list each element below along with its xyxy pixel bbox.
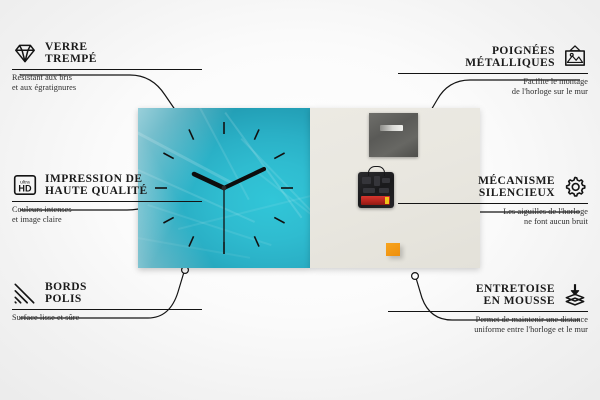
feature-title-line2: HAUTE QUALITÉ bbox=[45, 185, 148, 198]
feature-subtitle-line1: Permet de maintenir une distance bbox=[388, 315, 588, 325]
diamond-icon bbox=[12, 40, 38, 66]
feature-poignees-metalliques: POIGNÉES MÉTALLIQUES Facilite le montage… bbox=[398, 44, 588, 97]
feature-header: POIGNÉES MÉTALLIQUES bbox=[398, 44, 588, 70]
gear-icon bbox=[562, 174, 588, 200]
feature-impression-haute-qualite: ultra HD IMPRESSION DE HAUTE QUALITÉ Cou… bbox=[12, 172, 202, 225]
feature-title-line1: IMPRESSION DE bbox=[45, 173, 148, 186]
feature-subtitle-line2: uniforme entre l'horloge et le mur bbox=[388, 325, 588, 335]
foam-spacer-icon bbox=[562, 282, 588, 308]
mechanism-detail bbox=[363, 188, 375, 193]
feature-title-line2: MÉTALLIQUES bbox=[465, 57, 555, 70]
feature-title-line1: MÉCANISME bbox=[478, 175, 555, 188]
divider bbox=[12, 69, 202, 70]
feature-title-line1: ENTRETOISE bbox=[476, 283, 555, 296]
divider bbox=[388, 311, 588, 312]
clock-hands bbox=[194, 169, 264, 242]
mechanism-detail bbox=[382, 178, 390, 183]
feature-title-line2: POLIS bbox=[45, 293, 87, 306]
minute-hand bbox=[224, 169, 264, 188]
feature-subtitle-line1: Résistant aux bris bbox=[12, 73, 202, 83]
feature-subtitle-line1: Facilite le montage bbox=[398, 77, 588, 87]
feature-header: VERRE TREMPÉ bbox=[12, 40, 202, 66]
battery-positive-terminal bbox=[385, 197, 389, 204]
feature-subtitle-line2: de l'horloge sur le mur bbox=[398, 87, 588, 97]
metal-hanger-plate bbox=[369, 113, 418, 157]
infographic-canvas: VERRE TREMPÉ Résistant aux bris et aux é… bbox=[0, 0, 600, 400]
mechanism-detail bbox=[379, 188, 389, 193]
feature-header: ultra HD IMPRESSION DE HAUTE QUALITÉ bbox=[12, 172, 202, 198]
feature-title-line1: POIGNÉES bbox=[465, 45, 555, 58]
feature-subtitle-line1: Couleurs intenses bbox=[12, 205, 202, 215]
divider bbox=[398, 73, 588, 74]
feature-subtitle-line2: ne font aucun bruit bbox=[398, 217, 588, 227]
feature-subtitle-line1: Les aiguilles de l'horloge bbox=[398, 207, 588, 217]
mechanism-detail bbox=[374, 176, 380, 186]
feature-subtitle-line2: et image claire bbox=[12, 215, 202, 225]
feature-mecanisme-silencieux: MÉCANISME SILENCIEUX Les aiguilles de l'… bbox=[398, 174, 588, 227]
feature-title-line2: EN MOUSSE bbox=[476, 295, 555, 308]
battery bbox=[361, 196, 390, 205]
feature-title-line1: BORDS bbox=[45, 281, 87, 294]
mechanism-hanging-loop bbox=[368, 166, 385, 176]
feature-title-line2: TREMPÉ bbox=[45, 53, 97, 66]
feature-entretoise-en-mousse: ENTRETOISE EN MOUSSE Permet de maintenir… bbox=[388, 282, 588, 335]
hanger-slot bbox=[380, 125, 403, 131]
feature-subtitle-line2: et aux égratignures bbox=[12, 83, 202, 93]
divider bbox=[12, 201, 202, 202]
polished-edge-icon bbox=[12, 280, 38, 306]
feature-header: ENTRETOISE EN MOUSSE bbox=[388, 282, 588, 308]
ultra-hd-large-text: HD bbox=[18, 184, 32, 194]
hands-center-cap bbox=[222, 186, 227, 191]
feature-verre-trempe: VERRE TREMPÉ Résistant aux bris et aux é… bbox=[12, 40, 202, 93]
picture-hanger-icon bbox=[562, 44, 588, 70]
divider bbox=[12, 309, 202, 310]
feature-title-line2: SILENCIEUX bbox=[478, 187, 555, 200]
feature-subtitle-line1: Surface lisse et sûre bbox=[12, 313, 202, 323]
feature-title-line1: VERRE bbox=[45, 41, 97, 54]
ultra-hd-icon: ultra HD bbox=[12, 172, 38, 198]
connector-dot-entretoise bbox=[412, 273, 419, 280]
feature-bords-polis: BORDS POLIS Surface lisse et sûre bbox=[12, 280, 202, 323]
divider bbox=[398, 203, 588, 204]
mechanism-detail bbox=[362, 177, 371, 184]
feature-header: MÉCANISME SILENCIEUX bbox=[398, 174, 588, 200]
feature-header: BORDS POLIS bbox=[12, 280, 202, 306]
foam-spacer bbox=[386, 243, 400, 256]
clock-mechanism bbox=[358, 172, 394, 208]
